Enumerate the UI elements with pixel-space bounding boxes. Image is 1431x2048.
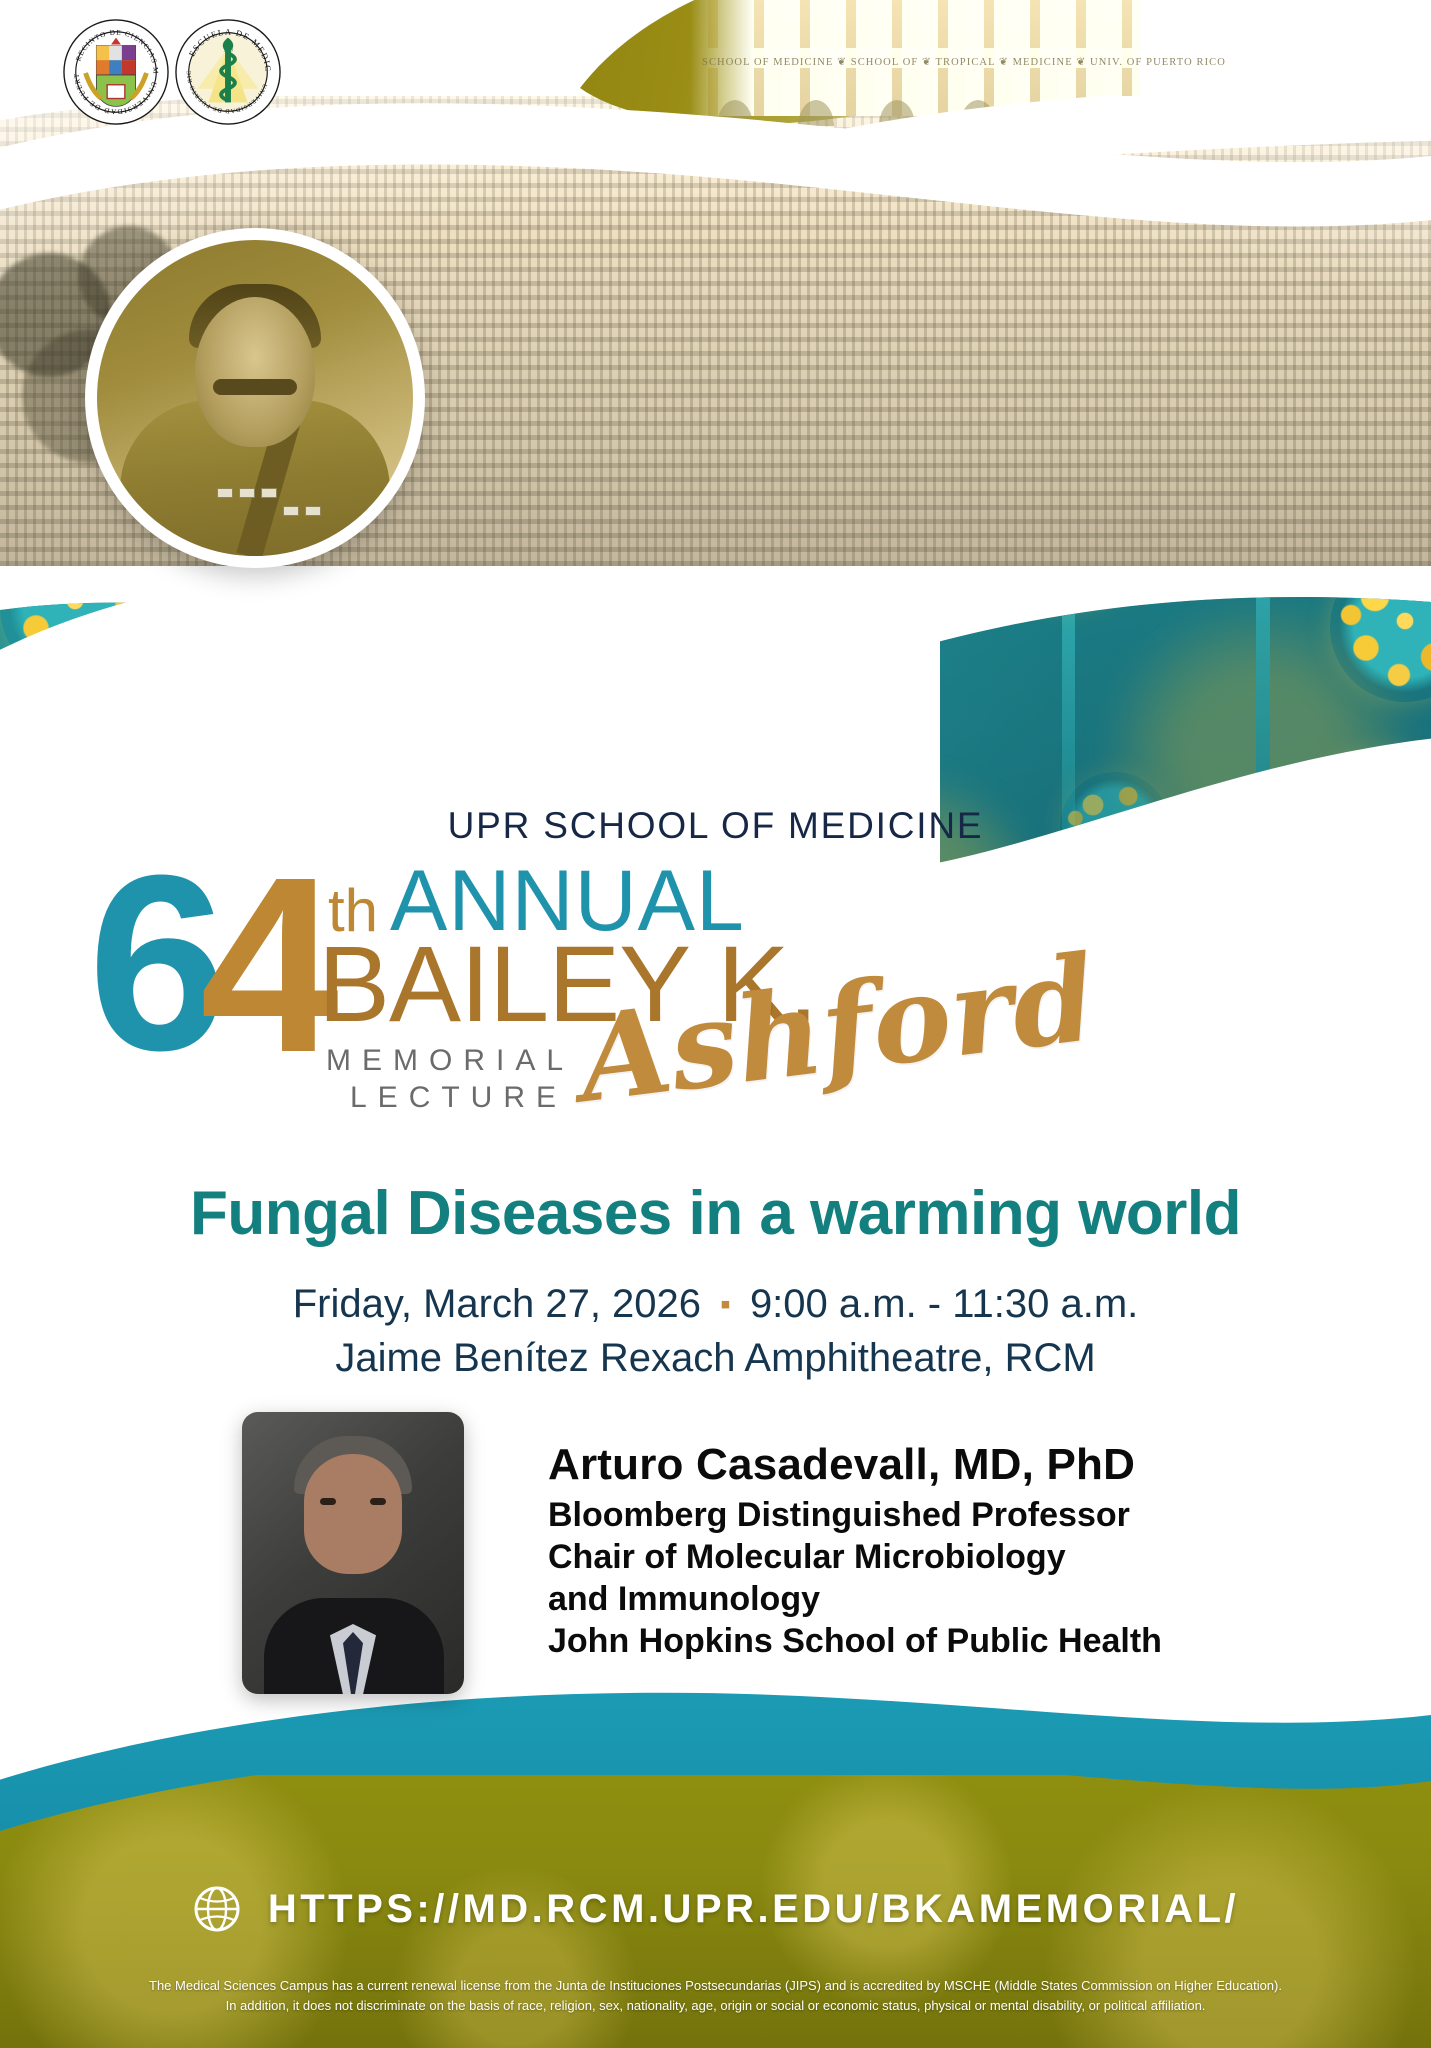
memorial-lecture-label: MEMORIAL LECTURE	[326, 1042, 574, 1116]
svg-text:1950: 1950	[223, 48, 233, 53]
speaker-headshot	[242, 1412, 464, 1694]
speaker-affiliation-line: and Immunology	[548, 1578, 1162, 1620]
speaker-name: Arturo Casadevall, MD, PhD	[548, 1440, 1135, 1490]
upr-medical-sciences-campus-seal: RECINTO DE CIENCIAS MEDICAS UNIVERSIDAD …	[62, 18, 170, 126]
speaker-eye	[320, 1498, 336, 1505]
footer-url-row[interactable]: HTTPS://MD.RCM.UPR.EDU/BKAMEMORIAL/	[0, 1884, 1431, 1934]
portrait-mustache	[213, 379, 297, 395]
event-time: 9:00 a.m. - 11:30 a.m.	[750, 1282, 1138, 1326]
portrait-face	[195, 297, 315, 447]
speaker-affiliation: Bloomberg Distinguished Professor Chair …	[548, 1494, 1162, 1662]
globe-icon	[192, 1884, 242, 1934]
uniform-medal-ribbon	[217, 488, 233, 498]
memorial-word: MEMORIAL	[326, 1044, 574, 1077]
lecture-title: Fungal Diseases in a warming world	[0, 1178, 1431, 1249]
event-dateline: Friday, March 27, 2026 ▪ 9:00 a.m. - 11:…	[0, 1282, 1431, 1327]
speaker-eye	[370, 1498, 386, 1505]
building-facade-caption: SCHOOL OF MEDICINE ❦ SCHOOL OF ❦ TROPICA…	[702, 56, 1132, 68]
speaker-face	[304, 1454, 402, 1574]
bailey-ashford-portrait-medallion	[85, 228, 425, 568]
upr-school-of-medicine-seal: ESCUELA DE MEDICINA UNIVERSIDAD DE PUERT…	[174, 18, 282, 126]
digit-six: 6	[88, 838, 213, 1088]
event-website-url[interactable]: HTTPS://MD.RCM.UPR.EDU/BKAMEMORIAL/	[268, 1887, 1239, 1932]
portrait-image	[97, 240, 413, 556]
event-venue: Jaime Benítez Rexach Amphitheatre, RCM	[0, 1336, 1431, 1381]
anniversary-lockup: 6 4 th ANNUAL BAILEY K. Ashford MEMORIAL…	[88, 852, 1088, 1097]
uniform-medal-ribbon	[283, 506, 299, 516]
event-date: Friday, March 27, 2026	[293, 1282, 701, 1326]
uniform-medal-ribbon	[305, 506, 321, 516]
digit-four: 4	[200, 840, 325, 1090]
dateline-separator: ▪	[712, 1288, 739, 1321]
accreditation-disclaimer: The Medical Sciences Campus has a curren…	[0, 1976, 1431, 2016]
lecture-word: LECTURE	[326, 1079, 574, 1116]
speaker-affiliation-line: Bloomberg Distinguished Professor	[548, 1494, 1162, 1536]
speaker-affiliation-line: John Hopkins School of Public Health	[548, 1620, 1162, 1662]
disclaimer-line-2: In addition, it does not discriminate on…	[28, 1996, 1403, 2016]
disclaimer-line-1: The Medical Sciences Campus has a curren…	[28, 1976, 1403, 1996]
uniform-medal-ribbon	[239, 488, 255, 498]
speaker-affiliation-line: Chair of Molecular Microbiology	[548, 1536, 1162, 1578]
poster-canvas: SCHOOL OF MEDICINE ❦ SCHOOL OF ❦ TROPICA…	[0, 0, 1431, 2048]
uniform-medal-ribbon	[261, 488, 277, 498]
